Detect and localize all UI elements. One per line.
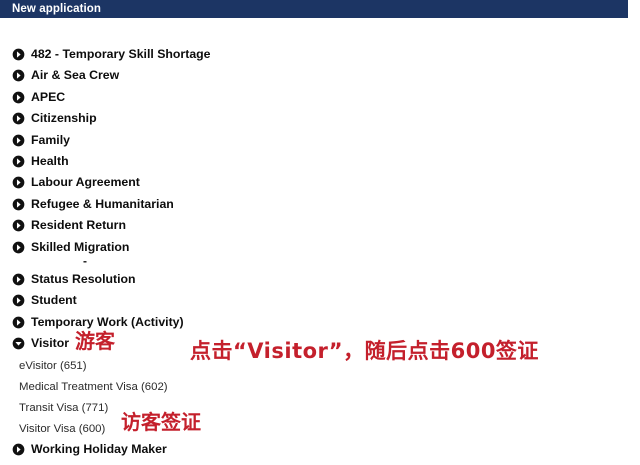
nav-item-label: 482 - Temporary Skill Shortage [31,48,211,61]
nav-item[interactable]: Resident Return [12,217,126,234]
nav-item-label: Temporary Work (Activity) [31,316,184,329]
nav-item[interactable]: Citizenship [12,110,97,127]
nav-item[interactable]: Family [12,132,70,149]
visa-category-list: 482 - Temporary Skill ShortageAir & Sea … [0,18,640,465]
nav-item-label: Family [31,134,70,147]
circle-chevron-right-icon[interactable] [12,48,31,61]
nav-item-label: Labour Agreement [31,176,140,189]
circle-chevron-right-icon[interactable] [12,134,31,147]
circle-chevron-right-icon[interactable] [12,443,31,456]
nav-item[interactable]: Working Holiday Maker [12,441,167,458]
visitor-sub-item[interactable]: Visitor Visa (600) [19,421,105,437]
nav-item-label: Refugee & Humanitarian [31,198,174,211]
nav-item-label: Health [31,155,69,168]
circle-chevron-right-icon[interactable] [12,69,31,82]
annotation-instruction: 点击“Visitor”，随后点击600签证 [190,340,539,363]
nav-item-label: Resident Return [31,219,126,232]
nav-item[interactable]: Air & Sea Crew [12,67,119,84]
visitor-sub-item[interactable]: eVisitor (651) [19,358,87,374]
circle-chevron-right-icon[interactable] [12,198,31,211]
nav-item[interactable]: 482 - Temporary Skill Shortage [12,46,211,63]
nav-item-label: APEC [31,91,65,104]
page-title: New application [0,3,101,15]
visitor-sub-item[interactable]: Transit Visa (771) [19,400,108,416]
nav-item[interactable]: Skilled Migration [12,239,129,256]
circle-chevron-right-icon[interactable] [12,112,31,125]
visitor-sub-item[interactable]: Medical Treatment Visa (602) [19,379,168,395]
stray-dash-artifact: - [83,254,87,268]
nav-item-label: Status Resolution [31,273,136,286]
visitor-sub-item-label: Visitor Visa (600) [19,423,105,436]
nav-item-label: Working Holiday Maker [31,443,167,456]
circle-chevron-right-icon[interactable] [12,316,31,329]
annotation-visitor-chinese: 游客 [75,331,115,351]
visitor-sub-item-label: eVisitor (651) [19,360,87,373]
nav-item-label: Visitor [31,337,69,350]
nav-item-label: Citizenship [31,112,97,125]
circle-chevron-right-icon[interactable] [12,241,31,254]
nav-item[interactable]: Labour Agreement [12,174,140,191]
nav-item[interactable]: Status Resolution [12,271,136,288]
circle-chevron-right-icon[interactable] [12,176,31,189]
page-header-bar: New application [0,0,628,18]
nav-item[interactable]: Refugee & Humanitarian [12,196,174,213]
annotation-visitor-visa-chinese: 访客签证 [121,412,201,432]
visitor-sub-item-label: Transit Visa (771) [19,402,108,415]
circle-chevron-right-icon[interactable] [12,91,31,104]
circle-chevron-right-icon[interactable] [12,155,31,168]
circle-chevron-right-icon[interactable] [12,294,31,307]
nav-item[interactable]: Health [12,153,69,170]
nav-item[interactable]: Student [12,292,77,309]
nav-item-label: Skilled Migration [31,241,129,254]
visitor-sub-item-label: Medical Treatment Visa (602) [19,381,168,394]
nav-item[interactable]: APEC [12,89,65,106]
nav-item-label: Air & Sea Crew [31,69,119,82]
circle-chevron-down-icon[interactable] [12,337,31,350]
circle-chevron-right-icon[interactable] [12,273,31,286]
nav-item[interactable]: Visitor [12,335,69,352]
nav-item-label: Student [31,294,77,307]
circle-chevron-right-icon[interactable] [12,219,31,232]
